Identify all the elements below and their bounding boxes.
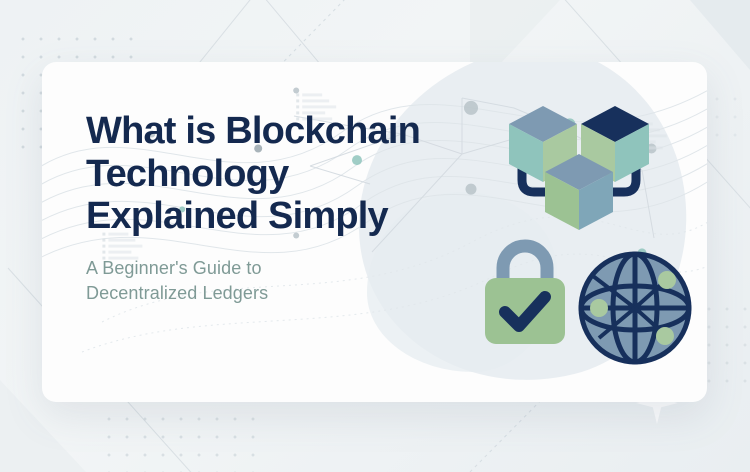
dot-grid-bottom-left [100, 410, 260, 472]
blockchain-illustration [459, 76, 699, 376]
slide-canvas: What is Blockchain Technology Explained … [0, 0, 750, 472]
page-subtitle: A Beginner's Guide to Decentralized Ledg… [86, 256, 336, 307]
dot-grid-bottom-right [700, 300, 750, 390]
text-block: What is Blockchain Technology Explained … [86, 110, 466, 307]
network-node [293, 88, 299, 94]
page-title: What is Blockchain Technology Explained … [86, 110, 466, 238]
padlock-check-icon [485, 246, 565, 344]
globe-network-icon [581, 254, 689, 362]
content-card: What is Blockchain Technology Explained … [42, 62, 707, 402]
